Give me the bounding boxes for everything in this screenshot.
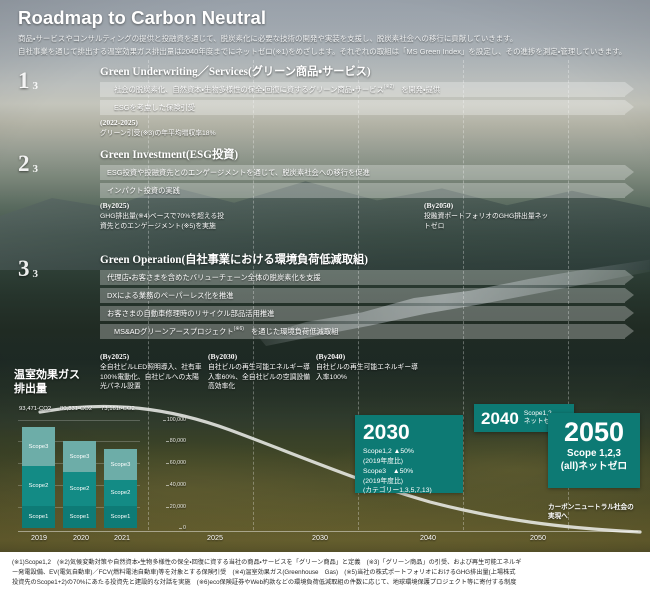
- section-2-note-by2025: (By2025) GHG排出量(※4)ベースで70%を超える投資先とのエンゲージ…: [100, 201, 225, 231]
- bar-column-2020[interactable]: Scope3 Scope2 Scope1: [63, 441, 96, 528]
- section-2-note-2025-text: GHG排出量(※4)ベースで70%を超える投資先とのエンゲージメント(※5)を実…: [100, 213, 224, 229]
- target-2030-line-3: Scope3 ▲50%: [363, 467, 455, 477]
- bar-column-2021[interactable]: Scope3 Scope2 Scope1: [104, 449, 137, 528]
- footnote-line-1: (※1)Scope1,2 (※2)気候変動対策や自然資本・生物多様性の保全・回復…: [12, 558, 638, 568]
- section-1-bar-2[interactable]: ESGを考慮した保険引受: [100, 100, 625, 115]
- section-1-note-year: (2022-2025): [100, 118, 230, 128]
- section-1-note-text: グリーン引受(※3)の年平均増収率18%: [100, 130, 216, 137]
- section-2-bar-2[interactable]: インパクト投資の実践: [100, 183, 625, 198]
- section-3-note-by2040: (By2040) 自社ビルの再生可能エネルギー導入率100%: [316, 352, 418, 382]
- target-2030-line-4: (2019年度比): [363, 477, 455, 487]
- section-2-note-2025-year: (By2025): [100, 201, 225, 211]
- section-2-heading: Green Investment(ESG投資): [100, 146, 640, 162]
- bar-segment-2019-scope3: Scope3: [22, 427, 55, 466]
- header-lede-line1: 商品・サービスやコンサルティングの提供と投融資を通じて、脱炭素化に必要な技術の開…: [18, 33, 517, 44]
- header-lede-line2: 自社事業を通じて排出する温室効果ガス排出量は2040年度までにネットゼロ(※1)…: [18, 46, 626, 57]
- y-tick-20000: 20,000: [170, 504, 186, 510]
- section-1-bar-1-label: 社会の脱炭素化、自然資本・生物多様性の保全・回復に資するグリーン商品・サービス(…: [100, 84, 440, 94]
- chart-title-line2: 排出量: [14, 383, 80, 397]
- section-1-number-small: 3: [33, 80, 39, 92]
- y-tick-80000: 80,000: [170, 438, 186, 444]
- target-2050-line-1: Scope 1,2,3: [554, 448, 634, 461]
- target-2030-line-2: (2019年度比): [363, 457, 455, 467]
- bar-segment-2019-scope2: Scope2: [22, 466, 55, 506]
- y-tick-100000: 100,000: [167, 417, 186, 423]
- target-2040-year: 2040: [481, 410, 519, 427]
- bar-segment-2020-scope3: Scope3: [63, 441, 96, 472]
- x-tick-2020: 2020: [73, 533, 89, 542]
- target-2050-year: 2050: [554, 419, 634, 446]
- page-title: Roadmap to Carbon Neutral: [18, 7, 266, 29]
- x-tick-2050: 2050: [530, 533, 546, 542]
- section-1-number-big: 1: [18, 68, 30, 93]
- emission-total-2020: 80,831-CO2: [60, 406, 92, 412]
- section-3-note-2025-text: 全自社ビルLED照明導入、社有車100%電動化、自社ビルへの太陽光パネル設置: [100, 364, 202, 390]
- target-2050-details: Scope 1,2,3 (all)ネットゼロ: [554, 448, 634, 473]
- section-3-note-2030-text: 自社ビルの再生可能エネルギー導入率60%、全自社ビルの空調設備高効率化: [208, 364, 310, 390]
- section-1-note-2022-2025: (2022-2025) グリーン引受(※3)の年平均増収率18%: [100, 118, 230, 139]
- bar-segment-2020-scope2: Scope2: [63, 472, 96, 506]
- section-3-note-2040-year: (By2040): [316, 352, 418, 362]
- section-3-bar-3-label: お客さまの自動車修理時のリサイクル部品活用推進: [100, 309, 274, 319]
- x-tick-2040: 2040: [420, 533, 436, 542]
- footnotes: (※1)Scope1,2 (※2)気候変動対策や自然資本・生物多様性の保全・回復…: [0, 552, 650, 611]
- section-3-number: 33: [18, 257, 78, 281]
- section-3-number-big: 3: [18, 256, 30, 281]
- x-tick-2021: 2021: [114, 533, 130, 542]
- section-2-number: 23: [18, 152, 78, 176]
- chart-title: 温室効果ガス 排出量: [14, 369, 80, 397]
- section-2-number-big: 2: [18, 151, 30, 176]
- section-3-bar-3[interactable]: お客さまの自動車修理時のリサイクル部品活用推進: [100, 306, 625, 321]
- section-1-number: 13: [18, 69, 78, 93]
- section-3-bar-4-label: MS&ADグリーンアースプロジェクト(※6)を通じた環境負荷低減取組: [100, 326, 339, 336]
- section-2-note-2050-year: (By2050): [424, 201, 549, 211]
- section-3-note-by2030: (By2030) 自社ビルの再生可能エネルギー導入率60%、全自社ビルの空調設備…: [208, 352, 310, 392]
- target-2030-year: 2030: [363, 422, 455, 443]
- y-tick-60000: 60,000: [170, 460, 186, 466]
- header: Roadmap to Carbon Neutral 商品・サービスやコンサルティ…: [0, 0, 650, 57]
- bar-segment-2021-scope2: Scope2: [104, 480, 137, 506]
- section-3-bar-2-label: DXによる業務のペーパーレス化を推進: [100, 291, 234, 301]
- target-2030-line-5: (カテゴリー1,3,5,7,13): [363, 486, 455, 496]
- section-3-note-2030-year: (By2030): [208, 352, 310, 362]
- bar-segment-2021-scope3: Scope3: [104, 449, 137, 480]
- section-3-note-2025-year: (By2025): [100, 352, 202, 362]
- section-2-number-small: 3: [33, 163, 39, 175]
- section-1-heading: Green Underwriting／Services(グリーン商品・サービス): [100, 63, 640, 79]
- bar-segment-2019-scope1: Scope1: [22, 506, 55, 528]
- target-2030-details: Scope1,2 ▲50% (2019年度比) Scope3 ▲50% (201…: [363, 447, 455, 496]
- section-3-number-small: 3: [33, 268, 39, 280]
- section-3-heading: Green Operation(自社事業における環境負荷低減取組): [100, 251, 640, 267]
- target-2030-line-1: Scope1,2 ▲50%: [363, 447, 455, 457]
- section-3-bar-2[interactable]: DXによる業務のペーパーレス化を推進: [100, 288, 625, 303]
- section-3-note-2040-text: 自社ビルの再生可能エネルギー導入率100%: [316, 364, 418, 380]
- section-2-bar-1[interactable]: ESG投資や投融資先とのエンゲージメントを通じて、脱炭素社会への移行を促進: [100, 165, 625, 180]
- x-tick-2025: 2025: [207, 533, 223, 542]
- carbon-neutral-note-line1: カーボンニュートラル社会の: [548, 504, 634, 513]
- bar-column-2019[interactable]: Scope3 Scope2 Scope1: [22, 427, 55, 528]
- section-3-bar-1[interactable]: 代理店・お客さまを含めたバリューチェーン全体の脱炭素化を支援: [100, 270, 625, 285]
- section-1-bar-2-label: ESGを考慮した保険引受: [100, 103, 195, 113]
- section-2-bar-1-label: ESG投資や投融資先とのエンゲージメントを通じて、脱炭素社会への移行を促進: [100, 168, 370, 178]
- chart-x-axis-line: [18, 531, 638, 532]
- chart-y-axis: 100,000 80,000 60,000 40,000 20,000 0: [138, 420, 186, 530]
- x-tick-2030: 2030: [312, 533, 328, 542]
- target-2050-line-2: (all)ネットゼロ: [554, 461, 634, 474]
- chart-title-line1: 温室効果ガス: [14, 369, 80, 383]
- carbon-neutral-note-line2: 実現へ: [548, 513, 634, 522]
- bar-segment-2020-scope1: Scope1: [63, 506, 96, 528]
- target-box-2050[interactable]: 2050 Scope 1,2,3 (all)ネットゼロ: [548, 413, 640, 488]
- bar-segment-2021-scope1: Scope1: [104, 506, 137, 528]
- section-2-bar-2-label: インパクト投資の実践: [100, 186, 180, 196]
- section-3-note-by2025: (By2025) 全自社ビルLED照明導入、社有車100%電動化、自社ビルへの太…: [100, 352, 202, 392]
- infographic-root: Roadmap to Carbon Neutral 商品・サービスやコンサルティ…: [0, 0, 650, 611]
- x-tick-2019: 2019: [31, 533, 47, 542]
- footnote-line-3: 投資先のScope1+2)の70%にあたる投資先と建設的な対話を実施 (※6)e…: [12, 578, 638, 588]
- section-1-bar-1[interactable]: 社会の脱炭素化、自然資本・生物多様性の保全・回復に資するグリーン商品・サービス(…: [100, 82, 625, 97]
- section-2-note-2050-text: 投融資ポートフォリオのGHG排出量ネットゼロ: [424, 213, 548, 229]
- y-tick-40000: 40,000: [170, 482, 186, 488]
- carbon-neutral-society-note: カーボンニュートラル社会の 実現へ: [548, 504, 634, 522]
- section-3-bar-1-label: 代理店・お客さまを含めたバリューチェーン全体の脱炭素化を支援: [100, 273, 321, 283]
- section-3-bar-4[interactable]: MS&ADグリーンアースプロジェクト(※6)を通じた環境負荷低減取組: [100, 324, 625, 339]
- section-2-note-by2050: (By2050) 投融資ポートフォリオのGHG排出量ネットゼロ: [424, 201, 549, 231]
- target-box-2030[interactable]: 2030 Scope1,2 ▲50% (2019年度比) Scope3 ▲50%…: [355, 415, 463, 493]
- emissions-bar-chart: Scope3 Scope2 Scope1 Scope3 Scope2 Scope…: [18, 420, 138, 528]
- emission-total-2021: 73,161t-CO2: [101, 406, 135, 412]
- footnote-line-2: ー発電設備、EV(電気自動車)／FCV(燃料電池自動車)等を対象とする保険引受 …: [12, 568, 638, 578]
- emission-total-2019: 93,471-CO2: [19, 406, 51, 412]
